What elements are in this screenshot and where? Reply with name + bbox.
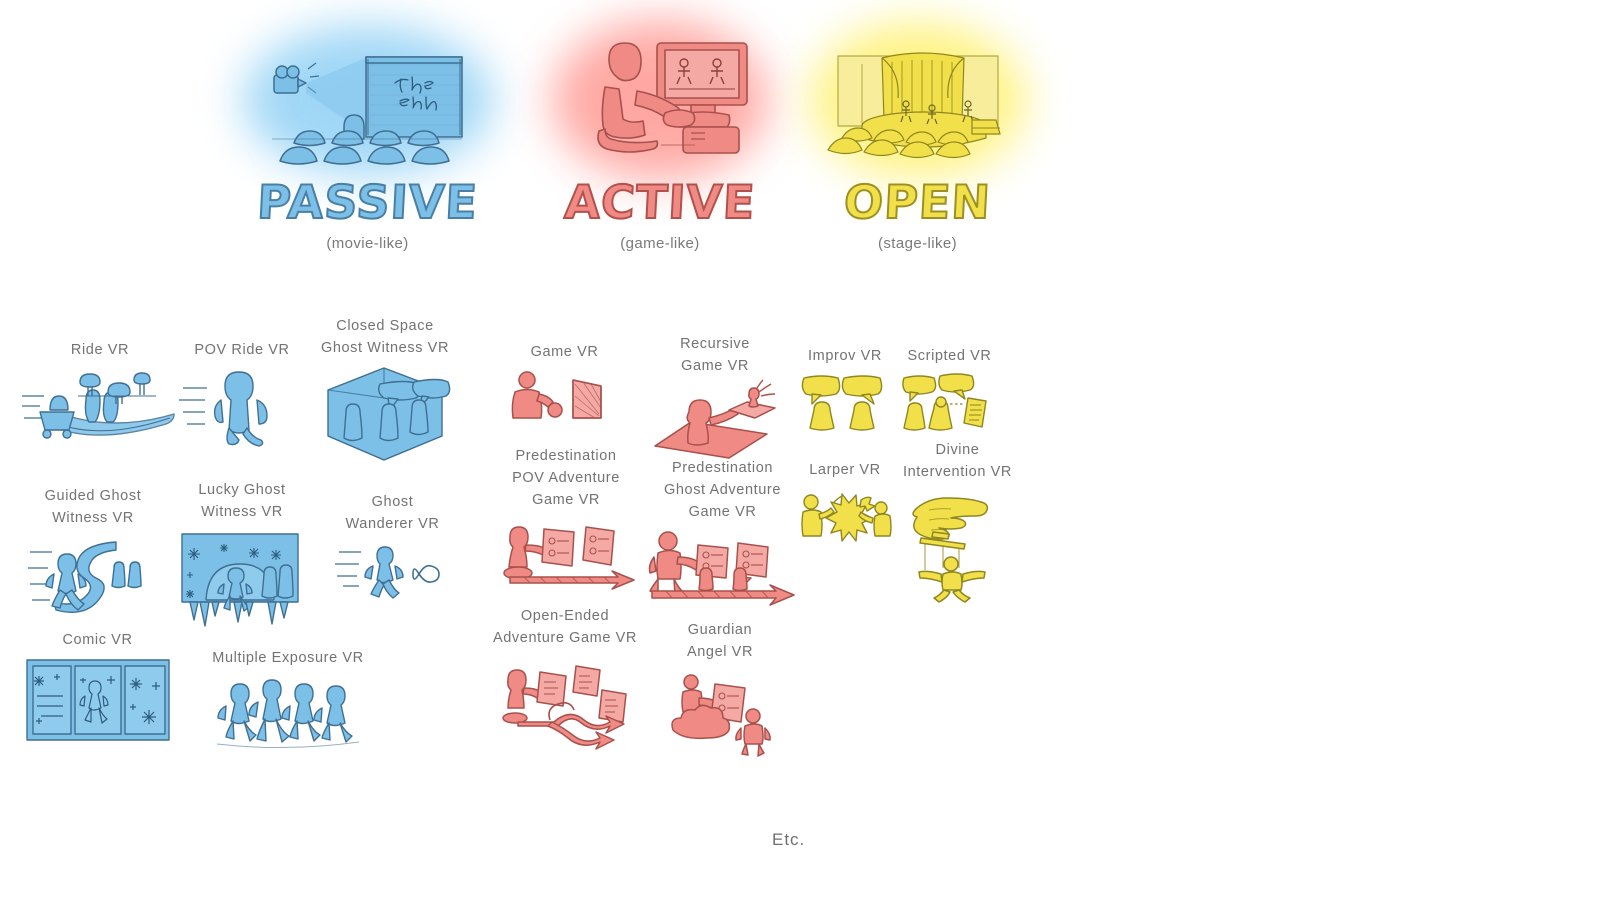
player-ball-goal-icon xyxy=(492,368,637,428)
item-recursive-game-vr-label: Recursive Game VR xyxy=(645,334,785,378)
item-ride-vr[interactable]: Ride VR xyxy=(20,340,180,446)
item-improv-vr[interactable]: Improv VR xyxy=(795,346,895,430)
header-active-title: ACTIVE xyxy=(539,179,781,225)
two-figures-with-script-icon xyxy=(897,372,1002,430)
item-predestination-pov-adventure-game-vr[interactable]: Predestination POV Adventure Game VR xyxy=(486,446,646,595)
item-open-ended-adventure-game-vr[interactable]: Open-Ended Adventure Game VR xyxy=(480,606,650,744)
item-guided-ghost-witness-vr-label: Guided Ghost Witness VR xyxy=(18,486,168,530)
item-game-vr-label: Game VR xyxy=(492,342,637,364)
item-pov-ride-vr[interactable]: POV Ride VR xyxy=(172,340,312,446)
snow-globe-with-figure-icon xyxy=(172,528,312,633)
header-open: OPEN (stage-like) xyxy=(805,25,1030,252)
item-predestination-pov-adventure-game-vr-label: Predestination POV Adventure Game VR xyxy=(486,446,646,511)
figure-on-carpet-holding-carpet-icon xyxy=(645,382,785,462)
item-ghost-wanderer-vr-label: Ghost Wanderer VR xyxy=(330,492,455,536)
two-figures-speech-bubbles-icon xyxy=(795,372,895,430)
header-active-subtitle: (game-like) xyxy=(540,235,780,252)
pov-figure-moving-icon xyxy=(172,366,312,446)
branching-arrows-choice-cards-icon xyxy=(480,654,650,744)
header-open-title: OPEN xyxy=(804,179,1031,225)
item-divine-intervention-vr[interactable]: Divine Intervention VR xyxy=(890,440,1025,598)
comic-panels-icon xyxy=(20,656,175,746)
header-active: ACTIVE (game-like) xyxy=(540,25,780,252)
item-improv-vr-label: Improv VR xyxy=(795,346,895,368)
item-larper-vr[interactable]: Larper VR xyxy=(795,460,895,542)
walking-figure-infinity-icon xyxy=(330,540,455,602)
item-lucky-ghost-witness-vr[interactable]: Lucky Ghost Witness VR xyxy=(172,480,312,633)
gamer-scene-icon xyxy=(565,35,755,165)
item-comic-vr[interactable]: Comic VR xyxy=(20,630,175,746)
four-overlapping-walkers-icon xyxy=(198,674,378,754)
seated-figure-choice-cards-arrow-icon xyxy=(486,515,646,595)
item-comic-vr-label: Comic VR xyxy=(20,630,175,652)
item-closed-space-ghost-witness-vr[interactable]: Closed Space Ghost Witness VR xyxy=(310,316,460,464)
item-divine-intervention-vr-label: Divine Intervention VR xyxy=(890,440,1025,484)
figure-on-winding-path-icon xyxy=(18,534,168,624)
item-guided-ghost-witness-vr[interactable]: Guided Ghost Witness VR xyxy=(18,486,168,624)
item-guardian-angel-vr-label: Guardian Angel VR xyxy=(660,620,780,664)
diagram-canvas: PASSIVE (movie-like) xyxy=(0,0,1600,900)
active-illustration xyxy=(540,25,780,175)
item-predestination-ghost-adventure-game-vr-label: Predestination Ghost Adventure Game VR xyxy=(640,458,805,523)
header-passive: PASSIVE (movie-like) xyxy=(230,25,505,252)
puppeteer-hand-and-marionette-icon xyxy=(890,488,1025,598)
open-illustration xyxy=(805,25,1030,175)
stage-scene-icon xyxy=(820,38,1015,163)
ride-cart-on-track-icon xyxy=(20,366,180,446)
item-closed-space-ghost-witness-vr-label: Closed Space Ghost Witness VR xyxy=(310,316,460,360)
item-multiple-exposure-vr-label: Multiple Exposure VR xyxy=(198,648,378,670)
header-passive-title: PASSIVE xyxy=(229,179,506,225)
item-open-ended-adventure-game-vr-label: Open-Ended Adventure Game VR xyxy=(480,606,650,650)
walking-figure-choice-cards-arrow-icon xyxy=(640,527,805,607)
header-passive-subtitle: (movie-like) xyxy=(230,235,505,252)
item-ghost-wanderer-vr[interactable]: Ghost Wanderer VR xyxy=(330,492,455,602)
item-multiple-exposure-vr[interactable]: Multiple Exposure VR xyxy=(198,648,378,754)
item-lucky-ghost-witness-vr-label: Lucky Ghost Witness VR xyxy=(172,480,312,524)
item-scripted-vr[interactable]: Scripted VR xyxy=(897,346,1002,430)
item-larper-vr-label: Larper VR xyxy=(795,460,895,482)
passive-illustration xyxy=(230,25,505,175)
item-guardian-angel-vr[interactable]: Guardian Angel VR xyxy=(660,620,780,758)
item-pov-ride-vr-label: POV Ride VR xyxy=(172,340,312,362)
item-game-vr[interactable]: Game VR xyxy=(492,342,637,428)
two-figures-combat-burst-icon xyxy=(795,486,895,542)
item-recursive-game-vr[interactable]: Recursive Game VR xyxy=(645,334,785,462)
item-predestination-ghost-adventure-game-vr[interactable]: Predestination Ghost Adventure Game VR xyxy=(640,458,805,607)
item-scripted-vr-label: Scripted VR xyxy=(897,346,1002,368)
footer-etc-label: Etc. xyxy=(772,830,805,850)
hexagon-room-with-speech-bubbles-icon xyxy=(310,364,460,464)
figure-on-cloud-with-menu-icon xyxy=(660,668,780,758)
cinema-scene-icon xyxy=(260,35,475,165)
header-open-subtitle: (stage-like) xyxy=(805,235,1030,252)
item-ride-vr-label: Ride VR xyxy=(20,340,180,362)
